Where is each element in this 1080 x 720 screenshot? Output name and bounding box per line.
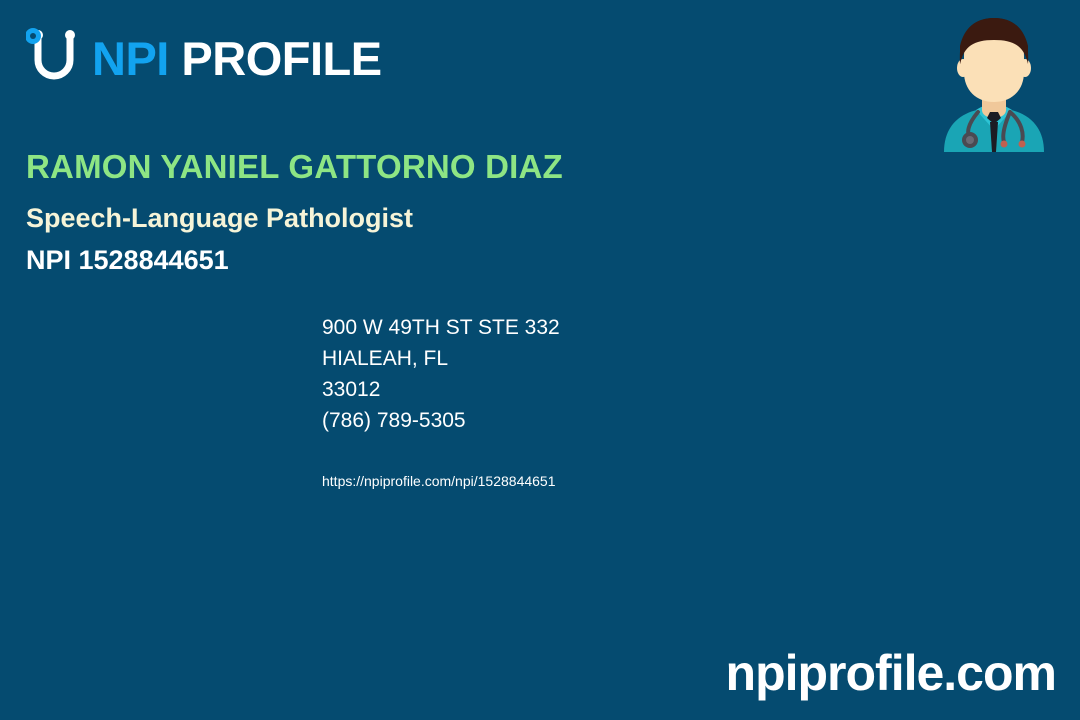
provider-taxonomy: Speech-Language Pathologist — [26, 203, 413, 234]
logo-text-npi: NPI — [92, 32, 169, 85]
profile-url-link[interactable]: https://npiprofile.com/npi/1528844651 — [322, 473, 556, 489]
provider-name: RAMON YANIEL GATTORNO DIAZ — [26, 149, 563, 185]
logo-wordmark: NPI PROFILE — [92, 35, 382, 82]
logo-text-profile: PROFILE — [181, 32, 381, 85]
provider-npi-number: NPI 1528844651 — [26, 245, 229, 276]
npi-profile-card: NPI PROFILE — [0, 0, 1080, 720]
stethoscope-icon — [26, 26, 82, 90]
footer-brand-wordmark: npiprofile.com — [726, 648, 1056, 698]
address-zip: 33012 — [322, 374, 560, 405]
practice-address-block: 900 W 49TH ST STE 332 HIALEAH, FL 33012 … — [322, 312, 560, 436]
address-phone[interactable]: (786) 789-5305 — [322, 405, 560, 436]
doctor-avatar-icon — [926, 12, 1062, 152]
address-city-state: HIALEAH, FL — [322, 343, 560, 374]
site-logo[interactable]: NPI PROFILE — [26, 26, 382, 90]
address-street: 900 W 49TH ST STE 332 — [322, 312, 560, 343]
